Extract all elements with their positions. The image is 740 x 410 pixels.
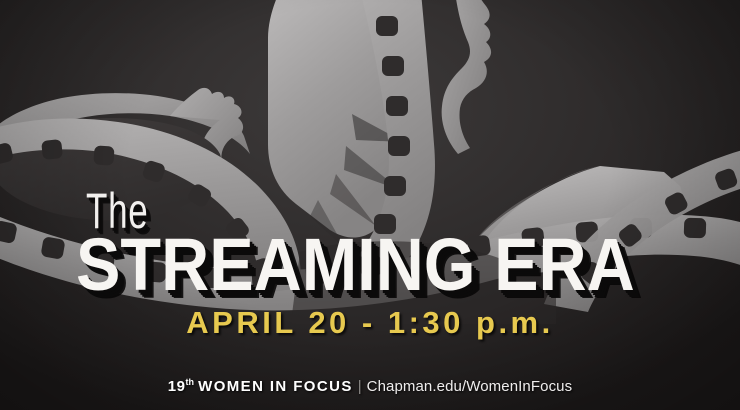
poster-text-layer: The STREAMING ERA APRIL 20 - 1:30 p.m. 1… — [0, 0, 740, 410]
organization-name: WOMEN IN FOCUS — [198, 378, 353, 395]
edition-number-suffix: th — [185, 377, 194, 387]
edition-number: 19th — [168, 378, 194, 395]
event-url[interactable]: Chapman.edu/WomenInFocus — [367, 378, 573, 395]
page-title: STREAMING ERA — [76, 228, 635, 302]
footer-credit-line: 19th WOMEN IN FOCUS|Chapman.edu/WomenInF… — [0, 372, 740, 397]
edition-number-value: 19 — [168, 378, 186, 395]
event-date-time: APRIL 20 - 1:30 p.m. — [0, 306, 740, 340]
event-poster: The STREAMING ERA APRIL 20 - 1:30 p.m. 1… — [0, 0, 740, 410]
footer-separator: | — [353, 378, 367, 395]
